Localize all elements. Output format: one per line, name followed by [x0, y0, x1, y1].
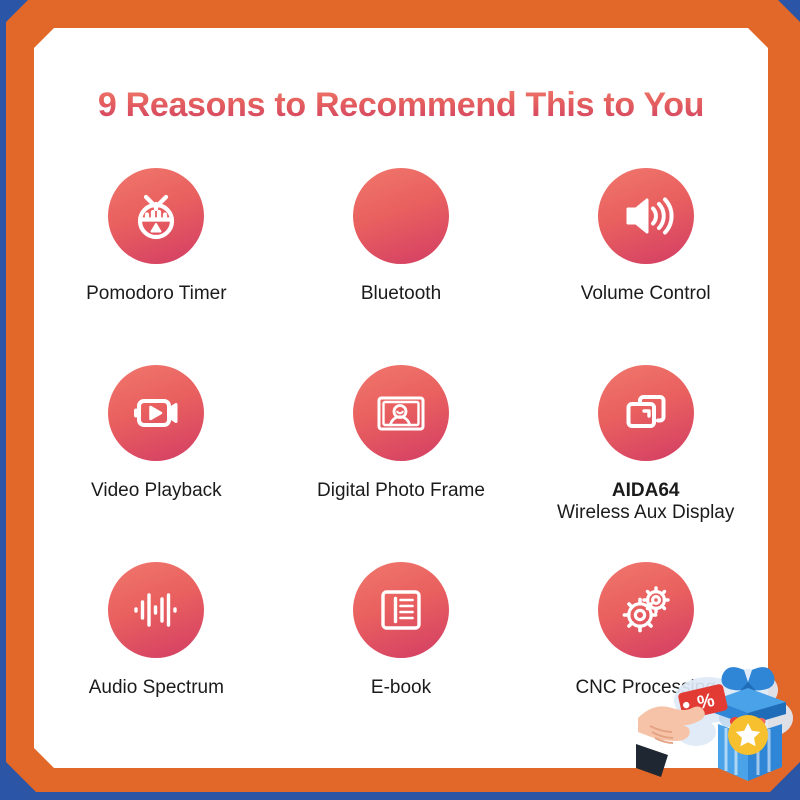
feature-label: Audio Spectrum: [89, 677, 224, 699]
icon-circle: [598, 168, 694, 264]
speaker-volume-icon: [618, 188, 674, 244]
poster-root: 9 Reasons to Recommend This to You: [0, 0, 800, 800]
icon-circle: [108, 562, 204, 658]
feature-label-line-1: Pomodoro Timer: [86, 283, 226, 305]
audio-waveform-icon: [128, 582, 184, 638]
feature-item-ebook[interactable]: E-book: [279, 562, 524, 699]
feature-label-line-1: E-book: [371, 677, 431, 699]
feature-label-line-1: Audio Spectrum: [89, 677, 224, 699]
feature-item-volume-control[interactable]: Volume Control: [523, 168, 768, 305]
feature-grid: Pomodoro Timer Bluetooth: [34, 168, 768, 759]
feature-label: Digital Photo Frame: [317, 480, 485, 502]
feature-label: Bluetooth: [361, 283, 441, 305]
video-camera-play-icon: [128, 385, 184, 441]
feature-label: Video Playback: [91, 480, 222, 502]
icon-circle: [353, 365, 449, 461]
page-title: 9 Reasons to Recommend This to You: [34, 86, 768, 125]
photo-frame-portrait-icon: [373, 385, 429, 441]
dual-screen-icon: [618, 385, 674, 441]
feature-label: AIDA64 Wireless Aux Display: [557, 480, 734, 525]
feature-item-video-playback[interactable]: Video Playback: [34, 365, 279, 502]
ebook-pages-icon: [373, 582, 429, 638]
tomato-pomodoro-icon: [128, 188, 184, 244]
feature-item-pomodoro-timer[interactable]: Pomodoro Timer: [34, 168, 279, 305]
feature-label: Volume Control: [581, 283, 711, 305]
feature-label: Pomodoro Timer: [86, 283, 226, 305]
feature-label-line-2: Wireless Aux Display: [557, 502, 734, 524]
feature-item-bluetooth[interactable]: Bluetooth: [279, 168, 524, 305]
feature-item-cnc-processing[interactable]: CNC Processing: [523, 562, 768, 699]
feature-label-line-1: AIDA64: [557, 480, 734, 502]
icon-circle: [108, 365, 204, 461]
icon-circle: [353, 168, 449, 264]
icon-circle: [598, 365, 694, 461]
feature-item-digital-photo-frame[interactable]: Digital Photo Frame: [279, 365, 524, 502]
feature-label-line-1: Digital Photo Frame: [317, 480, 485, 502]
icon-circle: [598, 562, 694, 658]
feature-label: CNC Processing: [575, 677, 715, 699]
icon-circle: [353, 562, 449, 658]
icon-circle: [108, 168, 204, 264]
content-card: 9 Reasons to Recommend This to You: [34, 28, 768, 768]
feature-item-aida64[interactable]: AIDA64 Wireless Aux Display: [523, 365, 768, 525]
feature-label: E-book: [371, 677, 431, 699]
feature-label-line-1: Video Playback: [91, 480, 222, 502]
feature-label-line-1: Volume Control: [581, 283, 711, 305]
feature-label-line-1: Bluetooth: [361, 283, 441, 305]
gears-icon: [617, 581, 675, 639]
feature-label-line-1: CNC Processing: [575, 677, 715, 699]
feature-item-audio-spectrum[interactable]: Audio Spectrum: [34, 562, 279, 699]
